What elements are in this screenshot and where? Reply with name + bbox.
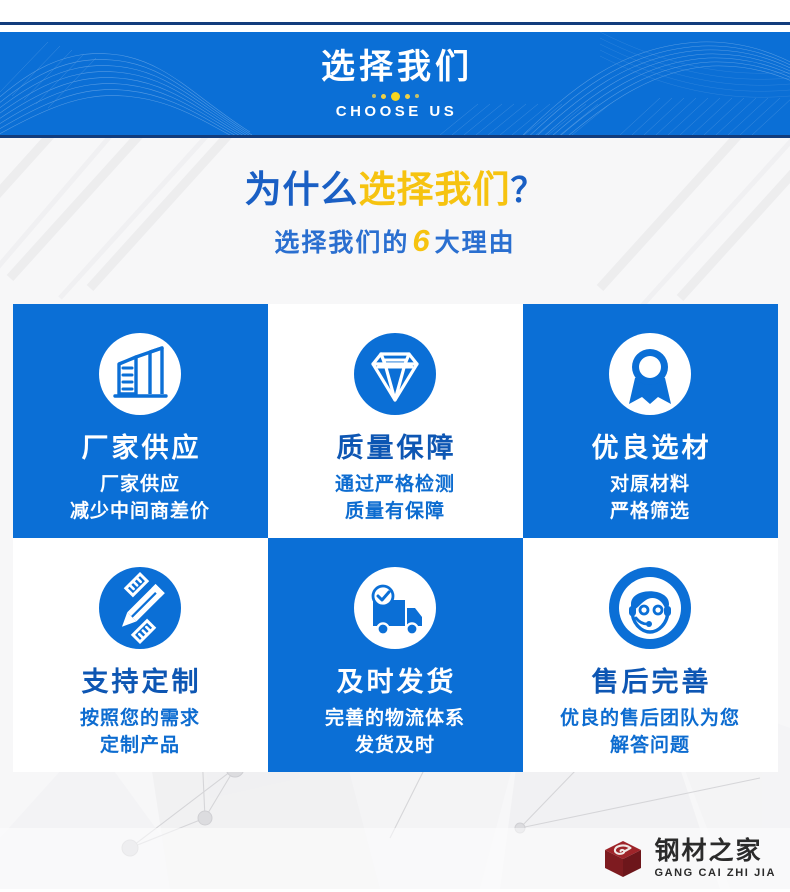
brand-name-en: GANG CAI ZHI JIA — [654, 868, 776, 879]
brand-text: 钢材之家 GANG CAI ZHI JIA — [654, 839, 776, 879]
feature-description: 对原材料 严格筛选 — [610, 472, 690, 525]
diamond-icon — [347, 326, 443, 422]
feature-description-line2: 严格筛选 — [610, 499, 690, 526]
feature-description-line2: 发货及时 — [325, 733, 465, 760]
cube-g-logo-icon — [601, 837, 645, 881]
page-subtitle: 选择我们的6大理由 — [0, 223, 790, 259]
banner-content: 选择我们 CHOOSE US — [0, 32, 790, 135]
feature-grid: 厂家供应 厂家供应 减少中间商差价 — [13, 304, 778, 772]
feature-card-after-sales[interactable]: 售后完善 优良的售后团队为您 解答问题 — [523, 538, 778, 772]
banner-dot-3-icon — [391, 92, 400, 101]
page-subtitle-number: 6 — [409, 223, 434, 258]
medal-icon — [602, 326, 698, 422]
page-title-highlight: 选择我们 — [359, 169, 511, 210]
banner-subtitle: CHOOSE US — [333, 103, 458, 120]
feature-card-fast-shipping[interactable]: 及时发货 完善的物流体系 发货及时 — [268, 538, 523, 772]
building-icon — [92, 326, 188, 422]
feature-description-line1: 对原材料 — [610, 472, 690, 499]
feature-description-line2: 解答问题 — [560, 733, 740, 760]
feature-description: 优良的售后团队为您 解答问题 — [560, 706, 740, 759]
customer-service-icon — [602, 560, 698, 656]
feature-description: 厂家供应 减少中间商差价 — [70, 472, 210, 525]
banner-dot-row — [372, 92, 419, 101]
page-title-part1: 为什么 — [245, 169, 359, 210]
feature-card-factory-supply[interactable]: 厂家供应 厂家供应 减少中间商差价 — [13, 304, 268, 538]
feature-description-line2: 质量有保障 — [335, 499, 455, 526]
feature-card-quality-assurance[interactable]: 质量保障 通过严格检测 质量有保障 — [268, 304, 523, 538]
feature-title: 质量保障 — [334, 434, 457, 464]
banner-title: 选择我们 — [317, 49, 473, 86]
page-subtitle-part2: 大理由 — [435, 229, 516, 257]
feature-description-line1: 厂家供应 — [70, 472, 210, 499]
choose-us-banner: 选择我们 CHOOSE US — [0, 32, 790, 135]
main-content: 为什么选择我们？ 选择我们的6大理由 — [0, 138, 790, 772]
page-title: 为什么选择我们？ — [0, 169, 790, 212]
pencil-ruler-icon — [92, 560, 188, 656]
feature-description-line1: 优良的售后团队为您 — [560, 706, 740, 733]
feature-description-line2: 定制产品 — [80, 733, 200, 760]
banner-dot-2-icon — [381, 94, 386, 99]
feature-title: 厂家供应 — [79, 434, 202, 464]
feature-card-material-selection[interactable]: 优良选材 对原材料 严格筛选 — [523, 304, 778, 538]
feature-description: 完善的物流体系 发货及时 — [325, 706, 465, 759]
footer-brand-logo[interactable]: 钢材之家 GANG CAI ZHI JIA — [601, 837, 776, 881]
delivery-truck-icon — [347, 560, 443, 656]
page-title-question-mark: ？ — [511, 172, 546, 210]
feature-description: 通过严格检测 质量有保障 — [335, 472, 455, 525]
feature-title: 售后完善 — [589, 668, 712, 698]
feature-description-line2: 减少中间商差价 — [70, 499, 210, 526]
banner-dot-1-icon — [372, 94, 376, 98]
top-rule-gap — [0, 25, 790, 32]
banner-dot-4-icon — [405, 94, 410, 99]
headings-block: 为什么选择我们？ 选择我们的6大理由 — [0, 138, 790, 259]
top-white-gap — [0, 0, 790, 22]
feature-description-line1: 通过严格检测 — [335, 472, 455, 499]
brand-name-cn: 钢材之家 — [654, 839, 776, 864]
feature-description: 按照您的需求 定制产品 — [80, 706, 200, 759]
feature-description-line1: 完善的物流体系 — [325, 706, 465, 733]
main-section: 为什么选择我们？ 选择我们的6大理由 — [0, 138, 790, 889]
feature-description-line1: 按照您的需求 — [80, 706, 200, 733]
banner-dot-5-icon — [415, 94, 419, 98]
feature-title: 优良选材 — [589, 434, 712, 464]
feature-card-customization[interactable]: 支持定制 按照您的需求 定制产品 — [13, 538, 268, 772]
feature-title: 及时发货 — [334, 668, 457, 698]
page-subtitle-part1: 选择我们的 — [274, 229, 409, 257]
feature-title: 支持定制 — [79, 668, 202, 698]
